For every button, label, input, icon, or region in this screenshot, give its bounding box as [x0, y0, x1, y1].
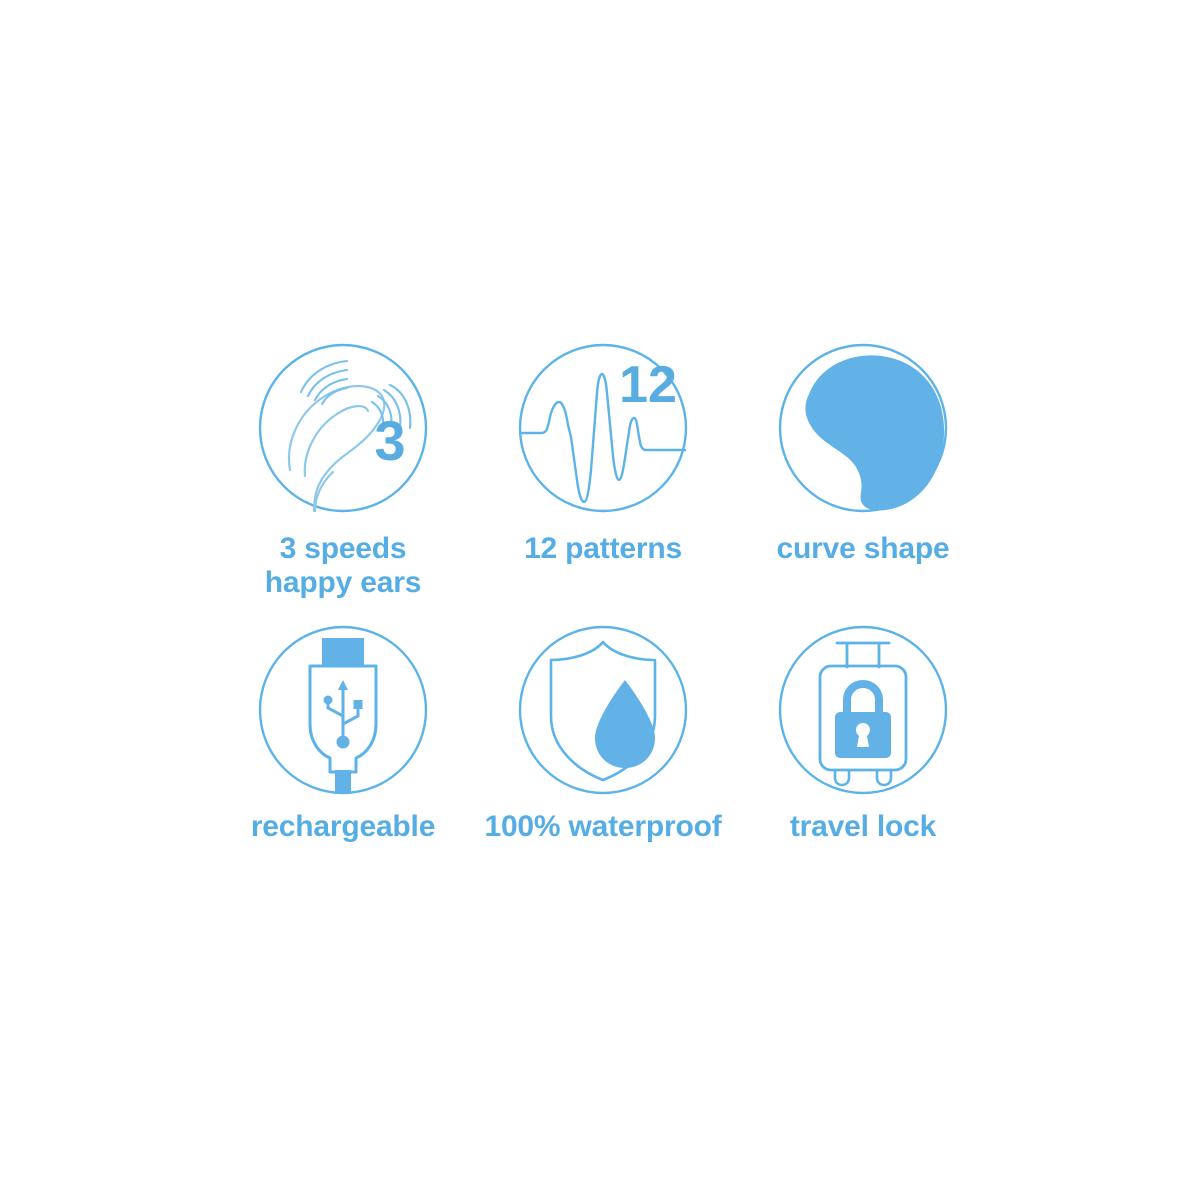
shield-water-drop-icon [513, 620, 693, 800]
padlock-keyhole [856, 723, 870, 747]
finger-silhouette [289, 386, 384, 511]
feature-icon-travel-lock [738, 620, 988, 810]
suitcase-lock-icon [773, 620, 953, 800]
pattern-count-numeral: 12 [619, 356, 677, 414]
padlock-shackle [847, 684, 879, 714]
feature-label-travel-lock: travel lock [738, 810, 988, 880]
feature-icon-curve [738, 330, 988, 530]
feature-icon-waterproof [478, 620, 728, 810]
feature-label-rechargeable: rechargeable [218, 810, 468, 880]
usb-metal-tip [322, 638, 364, 666]
feature-label-speeds: 3 speeds happy ears [218, 530, 468, 620]
usb-trident-symbol [324, 680, 363, 749]
curve-shape-icon [773, 330, 953, 520]
waveform-icon: 12 [513, 330, 693, 520]
feature-icon-rechargeable [218, 620, 468, 810]
curve-silhouette [805, 355, 944, 510]
feature-icon-grid: 3 12 3 speeds happy ears 12 patterns cur… [0, 0, 1200, 1200]
feature-icon-patterns: 12 [478, 330, 728, 530]
suitcase-wheels [835, 770, 891, 785]
vibrating-finger-icon: 3 [253, 330, 433, 520]
feature-label-curve: curve shape [738, 530, 988, 620]
usb-plug-icon [253, 620, 433, 800]
feature-icon-speeds: 3 [218, 330, 468, 530]
feature-label-patterns: 12 patterns [478, 530, 728, 620]
feature-label-waterproof: 100% waterproof [478, 810, 728, 880]
usb-cable-stub [335, 770, 351, 794]
speed-count-numeral: 3 [374, 409, 405, 472]
icon-circle-outline [780, 627, 946, 793]
suitcase-handle [837, 643, 889, 667]
